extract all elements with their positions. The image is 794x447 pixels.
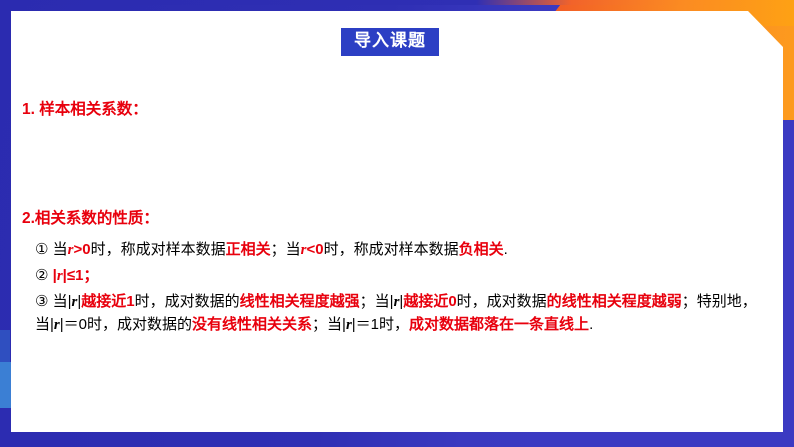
slide-title-badge: 导入课题 — [341, 28, 439, 56]
list-marker-1: ① — [35, 241, 48, 258]
heading-sample-correlation: 1. 样本相关系数： — [22, 100, 774, 121]
property-item-2: ② |r|≤1； — [22, 265, 774, 287]
property-item-1: ① 当r>0时，称成对样本数据正相关；当r<0时，称成对样本数据负相关. — [22, 239, 774, 261]
slide-root: 导入课题 1. 样本相关系数： 2.相关系数的性质： ① 当r>0时，称成对样本… — [0, 0, 794, 447]
heading-correlation-properties: 2.相关系数的性质： — [22, 209, 774, 230]
list-marker-3: ③ — [35, 293, 48, 310]
property-item-3: ③ 当|r|越接近1时，成对数据的线性相关程度越强；当|r|越接近0时，成对数据… — [22, 291, 774, 336]
left-edge-accent-dark — [0, 330, 10, 362]
vertical-spacer — [22, 121, 774, 209]
top-edge-gradient-bar — [0, 0, 794, 5]
slide-body: 1. 样本相关系数： 2.相关系数的性质： ① 当r>0时，称成对样本数据正相关… — [22, 100, 774, 336]
vertical-spacer-small — [22, 230, 774, 239]
list-marker-2: ② — [35, 267, 48, 284]
